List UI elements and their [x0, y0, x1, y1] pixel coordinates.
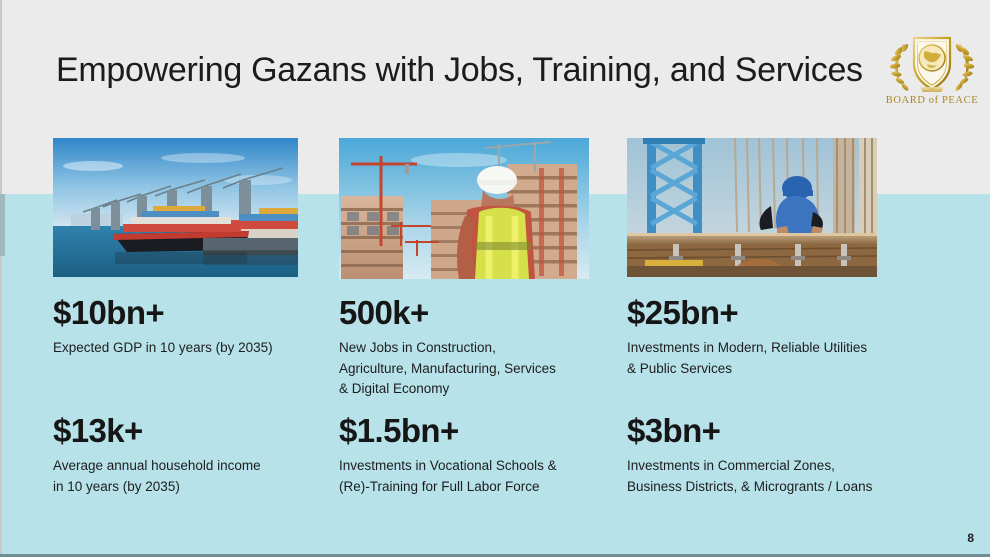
stat-value: $25bn+ — [627, 295, 917, 331]
stat-description-line: Expected GDP in 10 years (by 2035) — [53, 338, 343, 359]
stat-description-line: & Digital Economy — [339, 379, 629, 400]
stat-description-line: in 10 years (by 2035) — [53, 477, 343, 498]
stat-block: $10bn+ Expected GDP in 10 years (by 2035… — [53, 295, 343, 359]
stat-description: Expected GDP in 10 years (by 2035) — [53, 338, 343, 359]
stat-description-line: Investments in Vocational Schools & — [339, 456, 629, 477]
stat-description-line: Agriculture, Manufacturing, Services — [339, 359, 629, 380]
stat-description-line: New Jobs in Construction, — [339, 338, 629, 359]
stat-block: $3bn+ Investments in Commercial Zones, B… — [627, 413, 917, 497]
stat-value: 500k+ — [339, 295, 629, 331]
stat-value: $13k+ — [53, 413, 343, 449]
stat-description: Average annual household income in 10 ye… — [53, 456, 343, 497]
stat-description: Investments in Commercial Zones, Busines… — [627, 456, 917, 497]
page-title: Empowering Gazans with Jobs, Training, a… — [56, 51, 866, 90]
slide-canvas: Empowering Gazans with Jobs, Training, a… — [0, 0, 990, 557]
stat-description-line: Average annual household income — [53, 456, 343, 477]
stat-block: $25bn+ Investments in Modern, Reliable U… — [627, 295, 917, 379]
column-infrastructure: $25bn+ Investments in Modern, Reliable U… — [627, 138, 877, 277]
stat-description: Investments in Modern, Reliable Utilitie… — [627, 338, 917, 379]
slide-left-border — [0, 0, 2, 557]
builder-on-formwork-photo — [627, 138, 877, 277]
stat-block: 500k+ New Jobs in Construction, Agricult… — [339, 295, 629, 400]
slide-left-edge-strip — [0, 194, 5, 256]
stat-value: $3bn+ — [627, 413, 917, 449]
stat-block: $13k+ Average annual household income in… — [53, 413, 343, 497]
stat-value: $10bn+ — [53, 295, 343, 331]
column-jobs: 500k+ New Jobs in Construction, Agricult… — [339, 138, 589, 279]
board-of-peace-logo: BOARD of PEACE — [884, 24, 980, 108]
stat-description-line: Investments in Modern, Reliable Utilitie… — [627, 338, 917, 359]
stat-description: Investments in Vocational Schools & (Re)… — [339, 456, 629, 497]
logo-wordmark: BOARD of PEACE — [886, 95, 978, 106]
construction-worker-photo — [339, 138, 589, 279]
stat-description-line: & Public Services — [627, 359, 917, 380]
stat-description: New Jobs in Construction, Agriculture, M… — [339, 338, 629, 400]
stat-block: $1.5bn+ Investments in Vocational School… — [339, 413, 629, 497]
column-economy: $10bn+ Expected GDP in 10 years (by 2035… — [53, 138, 298, 277]
page-number: 8 — [967, 531, 974, 545]
stat-value: $1.5bn+ — [339, 413, 629, 449]
stat-description-line: Investments in Commercial Zones, — [627, 456, 917, 477]
container-port-photo — [53, 138, 298, 277]
stat-description-line: (Re)-Training for Full Labor Force — [339, 477, 629, 498]
stat-description-line: Business Districts, & Microgrants / Loan… — [627, 477, 917, 498]
